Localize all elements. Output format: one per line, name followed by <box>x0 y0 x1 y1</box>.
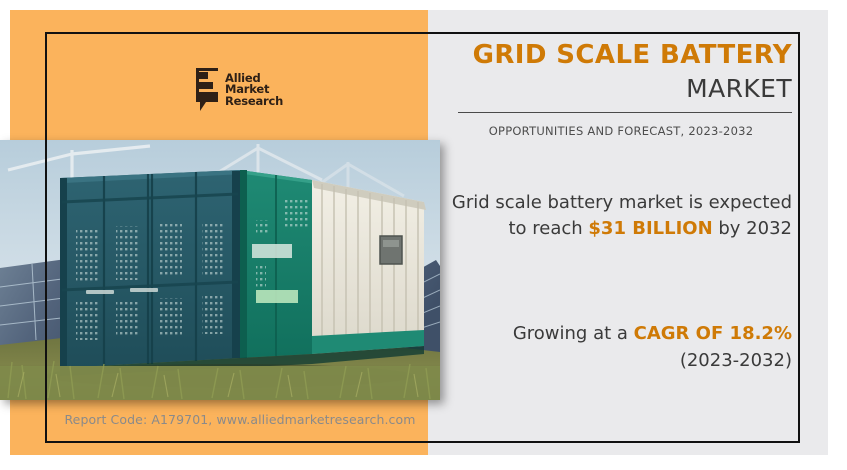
cagr-statement: Growing at a CAGR OF 18.2% (2023-2032) <box>450 320 792 374</box>
right-content-panel: GRID SCALE BATTERY MARKET OPPORTUNITIES … <box>450 40 792 435</box>
infographic-root: Allied Market Research <box>0 0 847 470</box>
market-size-statement: Grid scale battery market is expected to… <box>450 190 792 242</box>
report-code-text: Report Code: A179701, www.alliedmarketre… <box>60 412 420 427</box>
market-value: $31 BILLION <box>588 218 712 239</box>
battery-container-photo <box>0 140 440 400</box>
page-title-highlight: GRID SCALE BATTERY <box>450 40 792 70</box>
page-subtitle: OPPORTUNITIES AND FORECAST, 2023-2032 <box>450 124 792 138</box>
logo-speech-bubble-icon <box>196 68 222 112</box>
title-divider <box>458 112 792 113</box>
cagr-text-before: Growing at a <box>513 323 634 344</box>
cagr-period: (2023-2032) <box>450 347 792 374</box>
allied-market-research-logo: Allied Market Research <box>196 64 286 116</box>
logo-wordmark: Allied Market Research <box>225 73 283 108</box>
page-title-rest: MARKET <box>450 74 792 104</box>
cagr-value: CAGR OF 18.2% <box>634 323 792 344</box>
logo-line-research: Research <box>225 96 283 108</box>
market-text-after: by 2032 <box>713 218 792 239</box>
